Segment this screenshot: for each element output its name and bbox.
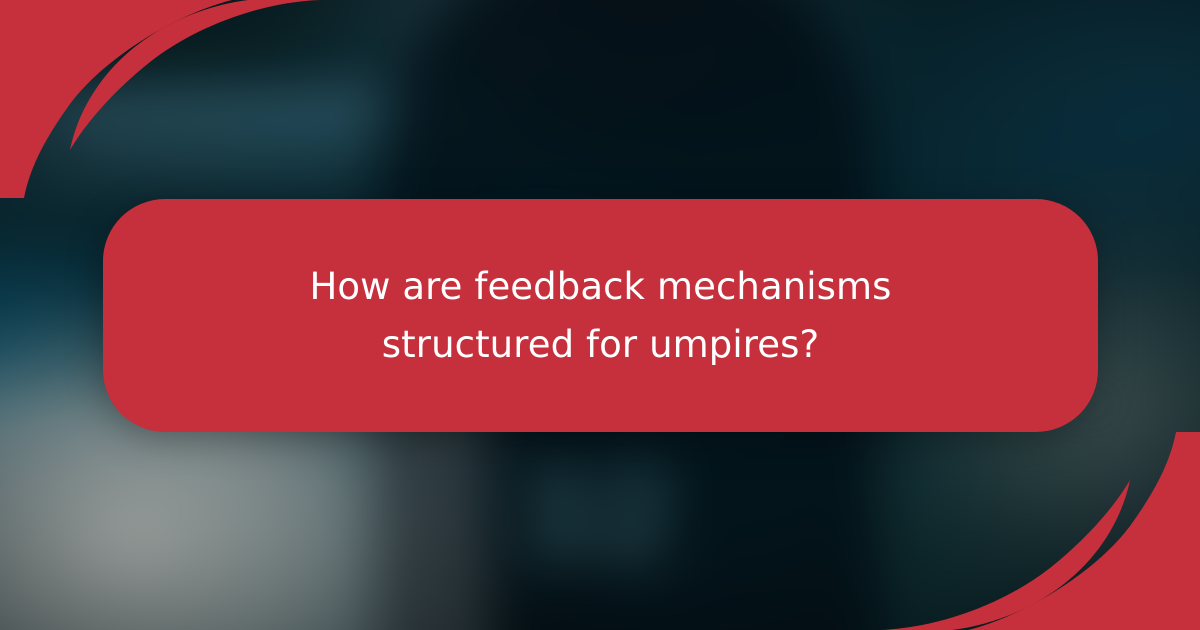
question-text: How are feedback mechanisms structured f…: [141, 258, 1061, 373]
social-card-stage: 32 How are feedback mechanisms structure…: [0, 0, 1200, 630]
question-card: How are feedback mechanisms structured f…: [103, 199, 1098, 432]
